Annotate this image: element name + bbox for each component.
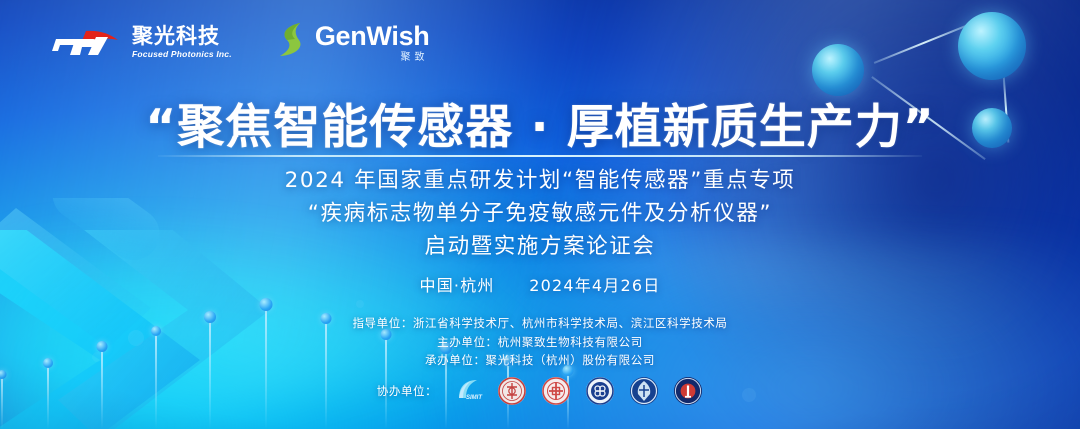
fpi-logo-cn: 聚光科技 xyxy=(132,26,232,47)
genwish-leaf-mark-icon xyxy=(278,20,308,65)
partner-navy-seal-2 xyxy=(673,376,703,406)
banner-subtitle-block: 2024 年国家重点研发计划“智能传感器”重点专项 “疾病标志物单分子免疫敏感元… xyxy=(0,165,1080,263)
banner-headline: “聚焦智能传感器 · 厚植新质生产力” xyxy=(0,88,1080,157)
subtitle-line-2: “疾病标志物单分子免疫敏感元件及分析仪器” xyxy=(0,198,1080,229)
event-banner: 聚光科技 Focused Photonics Inc. GenWish 聚致 xyxy=(0,0,1080,429)
genwish-logo-cn: 聚致 xyxy=(400,53,428,63)
host-unit-line: 主办单位：杭州聚致生物科技有限公司 xyxy=(0,333,1080,352)
logo-row: 聚光科技 Focused Photonics Inc. GenWish 聚致 xyxy=(52,20,429,65)
genwish-logo-en: GenWish xyxy=(315,23,430,50)
genwish-logo-text: GenWish 聚致 xyxy=(315,23,430,63)
subtitle-line-3: 启动暨实施方案论证会 xyxy=(0,231,1080,262)
guidance-unit-line: 指导单位：浙江省科学技术厅、杭州市科学技术局、滨江区科学技术局 xyxy=(0,314,1080,333)
simit-logo: SIMIT xyxy=(453,376,483,406)
svg-text:SIMIT: SIMIT xyxy=(466,395,483,401)
organizer-unit-line: 承办单位：聚光科技（杭州）股份有限公司 xyxy=(0,351,1080,370)
partners-label: 协办单位： xyxy=(377,383,438,399)
fpi-arrow-mark-icon xyxy=(52,29,124,59)
banner-content: 聚光科技 Focused Photonics Inc. GenWish 聚致 xyxy=(0,0,1080,429)
event-meta: 中国·杭州 2024年4月26日 xyxy=(0,272,1080,296)
partner-silver-seal xyxy=(629,376,659,406)
organization-block: 指导单位：浙江省科学技术厅、杭州市科学技术局、滨江区科学技术局 主办单位：杭州聚… xyxy=(0,314,1080,370)
fpi-logo-text: 聚光科技 Focused Photonics Inc. xyxy=(132,26,232,59)
genwish-logo: GenWish 聚致 xyxy=(278,20,430,65)
partner-crimson-seal-2 xyxy=(541,376,571,406)
partner-navy-seal-1 xyxy=(585,376,615,406)
fpi-logo-en: Focused Photonics Inc. xyxy=(132,50,232,59)
partner-crimson-seal-1 xyxy=(497,376,527,406)
fpi-logo: 聚光科技 Focused Photonics Inc. xyxy=(52,26,232,59)
event-date: 2024年4月26日 xyxy=(529,276,660,295)
subtitle-line-1: 2024 年国家重点研发计划“智能传感器”重点专项 xyxy=(0,165,1080,196)
partner-row: 协办单位： SIMIT xyxy=(0,376,1080,406)
event-location: 中国·杭州 xyxy=(420,276,495,295)
headline-divider xyxy=(158,155,922,157)
